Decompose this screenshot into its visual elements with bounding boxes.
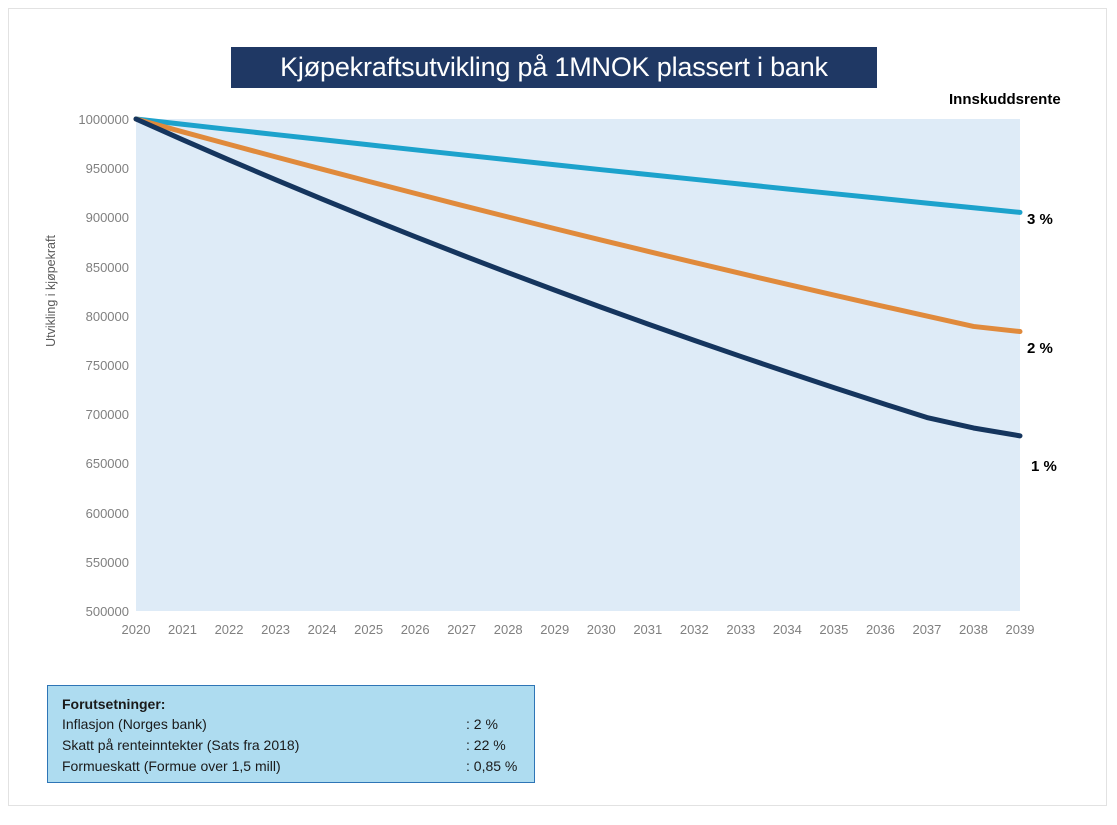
y-tick-label: 750000 xyxy=(21,359,129,372)
chart-title: Kjøpekraftsutvikling på 1MNOK plassert i… xyxy=(231,47,877,88)
plot-lines-svg xyxy=(136,119,1020,611)
series-label: 3 % xyxy=(1027,211,1053,228)
assumption-name: Formueskatt (Formue over 1,5 mill) xyxy=(62,756,281,777)
chart-frame: Kjøpekraftsutvikling på 1MNOK plassert i… xyxy=(8,8,1107,806)
plot-area xyxy=(136,119,1020,611)
y-tick-label: 700000 xyxy=(21,408,129,421)
assumption-row: Formueskatt (Formue over 1,5 mill): 0,85… xyxy=(62,756,520,777)
assumption-row: Inflasjon (Norges bank): 2 % xyxy=(62,714,520,735)
assumptions-heading: Forutsetninger: xyxy=(62,695,520,714)
y-tick-label: 650000 xyxy=(21,457,129,470)
assumption-name: Skatt på renteinntekter (Sats fra 2018) xyxy=(62,735,299,756)
legend-title: Innskuddsrente xyxy=(949,91,1061,108)
y-tick-label: 950000 xyxy=(21,162,129,175)
assumption-row: Skatt på renteinntekter (Sats fra 2018):… xyxy=(62,735,520,756)
y-tick-label: 1000000 xyxy=(21,113,129,126)
y-tick-label: 900000 xyxy=(21,211,129,224)
assumption-value: : 0,85 % xyxy=(466,756,517,777)
y-tick-label: 500000 xyxy=(21,605,129,618)
series-label: 1 % xyxy=(1031,458,1057,475)
assumptions-rows: Inflasjon (Norges bank): 2 %Skatt på ren… xyxy=(62,714,520,777)
series-line xyxy=(136,119,1020,212)
y-tick-label: 850000 xyxy=(21,261,129,274)
assumptions-box: Forutsetninger: Inflasjon (Norges bank):… xyxy=(47,685,535,783)
y-tick-label: 800000 xyxy=(21,310,129,323)
y-tick-label: 550000 xyxy=(21,556,129,569)
assumption-value: : 22 % xyxy=(466,735,506,756)
series-label: 2 % xyxy=(1027,340,1053,357)
x-axis-tick-labels: 2020202120222023202420252026202720282029… xyxy=(136,621,1020,643)
assumption-value: : 2 % xyxy=(466,714,498,735)
y-tick-label: 600000 xyxy=(21,507,129,520)
assumption-name: Inflasjon (Norges bank) xyxy=(62,714,207,735)
x-tick-label: 2039 xyxy=(990,621,1050,639)
